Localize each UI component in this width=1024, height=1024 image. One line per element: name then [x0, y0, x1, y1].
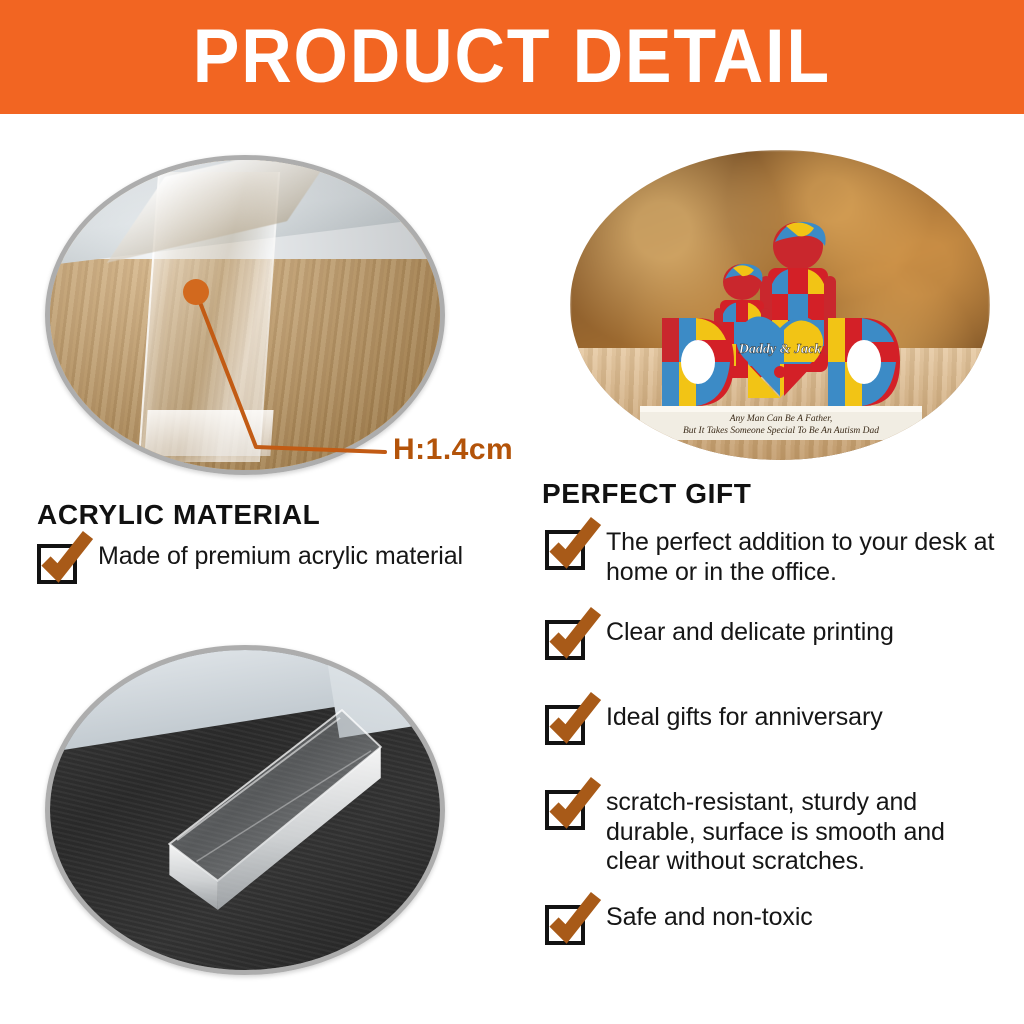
- feature-label: Clear and delicate printing: [606, 618, 894, 648]
- feature-label: Ideal gifts for anniversary: [606, 703, 883, 733]
- page-title: PRODUCT DETAIL: [193, 19, 831, 95]
- section-title-acrylic-material: ACRYLIC MATERIAL: [37, 499, 320, 531]
- dad-ornament-figure: Daddy & Jack Any Man Can Be A Father, Bu…: [570, 150, 990, 460]
- feature-label: Made of premium acrylic material: [98, 542, 463, 572]
- feature-item: scratch-resistant, sturdy and durable, s…: [545, 788, 1000, 877]
- ornament-base: Any Man Can Be A Father, But It Takes So…: [640, 406, 922, 440]
- checkbox-icon: [545, 790, 585, 830]
- feature-item: Ideal gifts for anniversary: [545, 703, 995, 745]
- feature-item: Safe and non-toxic: [545, 903, 995, 945]
- letter-d-right: [828, 318, 900, 406]
- section-title-perfect-gift: PERFECT GIFT: [542, 478, 751, 510]
- checkmark-icon: [546, 692, 602, 748]
- letter-d-left: [662, 318, 734, 406]
- checkbox-icon: [545, 530, 585, 570]
- feature-item: The perfect addition to your desk at hom…: [545, 528, 995, 587]
- checkmark-icon: [546, 607, 602, 663]
- checkbox-icon: [545, 620, 585, 660]
- base-inscription-line2: But It Takes Someone Special To Be An Au…: [683, 426, 879, 436]
- acrylic-block-base: [144, 410, 273, 456]
- feature-label: scratch-resistant, sturdy and durable, s…: [606, 788, 1000, 877]
- feature-item: Made of premium acrylic material: [37, 542, 507, 584]
- checkmark-icon: [546, 777, 602, 833]
- base-inscription-line1: Any Man Can Be A Father,: [729, 414, 833, 424]
- heart-inscription: Daddy & Jack: [738, 342, 821, 357]
- heart-plaque: Daddy & Jack: [736, 316, 824, 398]
- product-detail-page: PRODUCT DETAIL H:1.4cm: [0, 0, 1024, 1024]
- checkmark-icon: [546, 892, 602, 948]
- feature-label: The perfect addition to your desk at hom…: [606, 528, 995, 587]
- checkmark-icon: [546, 517, 602, 573]
- acrylic-slab-figure: [50, 650, 440, 970]
- photo-acrylic-slab: [45, 645, 445, 975]
- checkmark-icon: [38, 531, 94, 587]
- dimension-label: H:1.4cm: [393, 433, 513, 467]
- feature-label: Safe and non-toxic: [606, 903, 813, 933]
- header-banner: PRODUCT DETAIL: [0, 0, 1024, 114]
- photo-dad-ornament: Daddy & Jack Any Man Can Be A Father, Bu…: [570, 150, 990, 460]
- feature-item: Clear and delicate printing: [545, 618, 995, 660]
- checkbox-icon: [545, 905, 585, 945]
- checkbox-icon: [545, 705, 585, 745]
- checkbox-icon: [37, 544, 77, 584]
- photo-acrylic-edge: [45, 155, 445, 475]
